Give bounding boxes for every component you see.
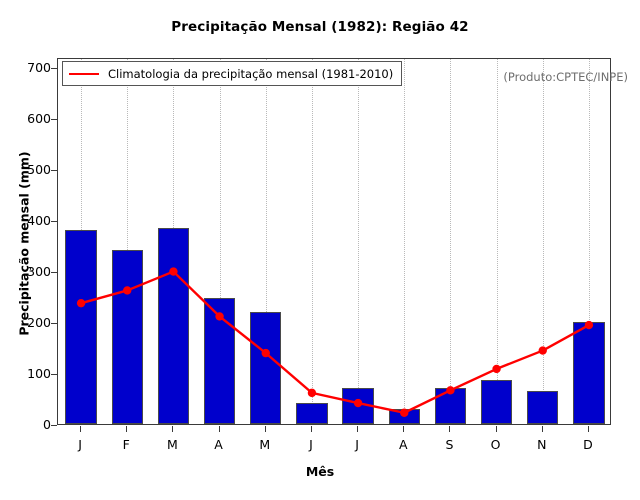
x-tick-label: M — [245, 437, 285, 452]
plot-inner — [58, 59, 610, 424]
data-point-marker — [400, 409, 408, 417]
data-point-marker — [354, 399, 362, 407]
data-point-marker — [215, 312, 223, 320]
climatology-markers — [77, 267, 593, 417]
data-point-marker — [308, 389, 316, 397]
legend-item-label: Climatologia da precipitação mensal (198… — [108, 67, 393, 81]
data-point-marker — [446, 386, 454, 394]
page-title: Precipitação Mensal (1982): Região 42 — [0, 19, 640, 35]
plot-area — [57, 58, 611, 425]
x-tick-mark — [496, 426, 497, 432]
data-point-marker — [492, 365, 500, 373]
x-tick-label: N — [522, 437, 562, 452]
x-tick-mark — [403, 426, 404, 432]
x-tick-label: J — [337, 437, 377, 452]
x-tick-mark — [265, 426, 266, 432]
x-tick-label: J — [60, 437, 100, 452]
climatology-line — [81, 272, 589, 413]
x-tick-mark — [80, 426, 81, 432]
x-tick-label: A — [199, 437, 239, 452]
legend: Climatologia da precipitação mensal (198… — [62, 61, 402, 86]
y-axis-title: Precipitação mensal (mm) — [17, 124, 32, 364]
line-series — [58, 59, 610, 424]
x-tick-mark — [311, 426, 312, 432]
data-point-marker — [539, 346, 547, 354]
y-tick-label: 0 — [11, 419, 51, 432]
x-tick-mark — [449, 426, 450, 432]
x-tick-mark — [357, 426, 358, 432]
x-tick-mark — [126, 426, 127, 432]
data-point-marker — [77, 299, 85, 307]
y-tick-mark — [51, 425, 57, 426]
x-tick-mark — [542, 426, 543, 432]
y-tick-label: 700 — [11, 62, 51, 75]
x-tick-label: S — [429, 437, 469, 452]
data-point-marker — [123, 286, 131, 294]
data-point-marker — [262, 349, 270, 357]
x-tick-label: M — [152, 437, 192, 452]
x-tick-label: A — [383, 437, 423, 452]
chart-canvas: Precipitação Mensal (1982): Região 42 01… — [0, 0, 640, 500]
x-tick-label: O — [476, 437, 516, 452]
y-tick-label: 100 — [11, 368, 51, 381]
x-axis-title: Mês — [0, 464, 640, 479]
x-tick-mark — [219, 426, 220, 432]
x-tick-mark — [588, 426, 589, 432]
x-tick-label: J — [291, 437, 331, 452]
x-tick-mark — [172, 426, 173, 432]
legend-line-swatch — [69, 73, 99, 75]
data-point-marker — [585, 321, 593, 329]
x-tick-label: F — [106, 437, 146, 452]
source-annotation: (Produto:CPTEC/INPE) — [503, 70, 628, 84]
data-point-marker — [169, 267, 177, 275]
x-tick-label: D — [568, 437, 608, 452]
